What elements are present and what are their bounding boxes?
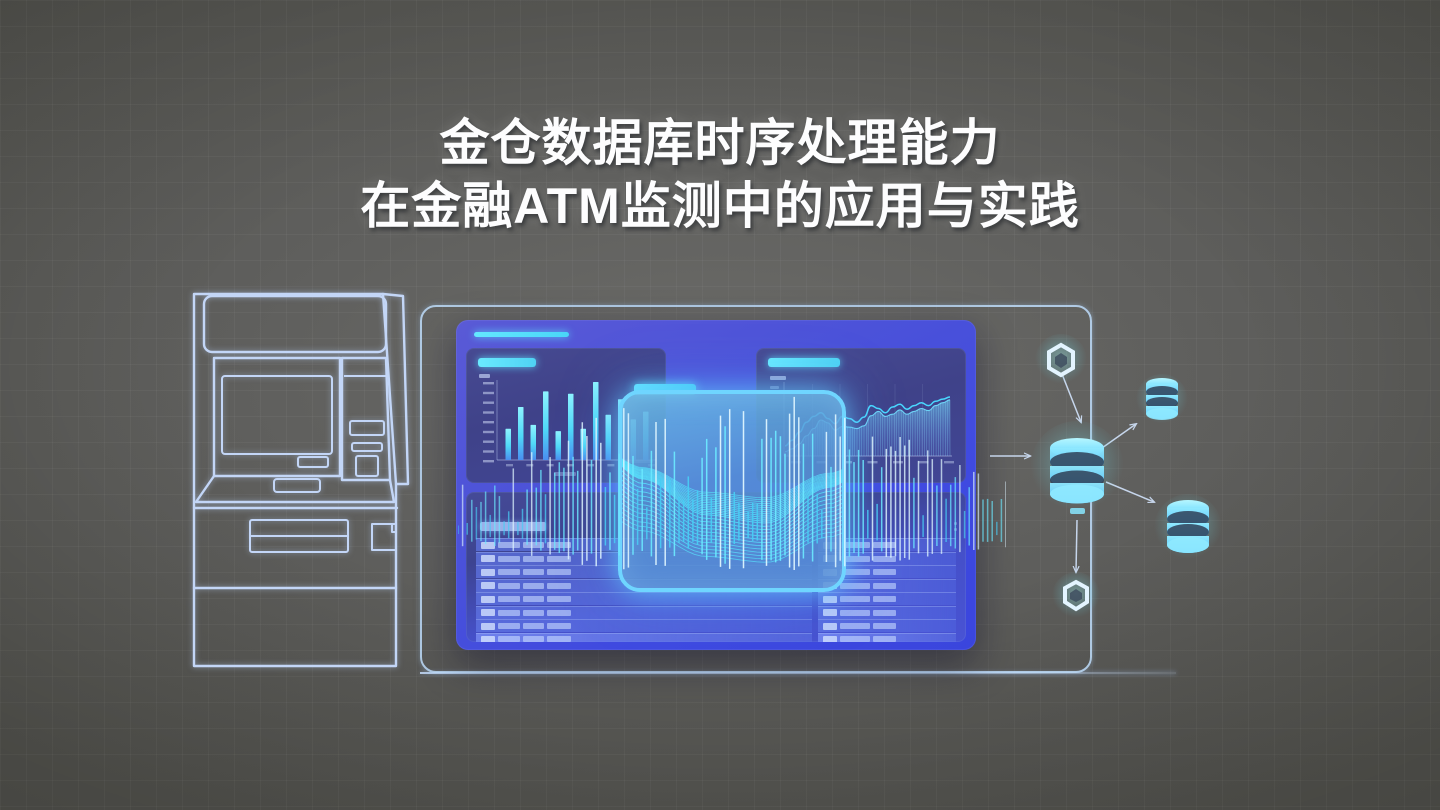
row-text-segment [523, 556, 544, 562]
row-id-tag [481, 569, 495, 576]
table-row[interactable] [476, 606, 812, 619]
row-text-segment [547, 583, 571, 589]
row-id-tag [481, 596, 495, 603]
row-text-segment [498, 623, 520, 629]
row-text-segment [873, 636, 896, 642]
row-text-segment [873, 542, 896, 548]
row-text-segment [840, 636, 870, 642]
row-text-segment [498, 583, 520, 589]
row-id-tag [823, 636, 837, 643]
ground-line [420, 672, 1176, 674]
row-text-segment [547, 610, 571, 616]
bar-chart-xlabel-blob [554, 472, 576, 476]
table-row[interactable] [818, 633, 956, 643]
alert-table-menu-dot-1[interactable] [954, 522, 957, 525]
row-id-tag [481, 542, 495, 549]
row-text-segment [523, 569, 544, 575]
row-id-tag [823, 623, 837, 630]
row-text-segment [840, 623, 870, 629]
row-text-segment [547, 542, 571, 548]
row-text-segment [840, 596, 870, 602]
area-chart-ylabel-blob [770, 386, 779, 389]
table-row[interactable] [476, 633, 812, 643]
page-title-line-2: 在金融ATM监测中的应用与实践 [0, 175, 1440, 238]
stacked-sine-waveform [618, 390, 846, 588]
row-id-tag [481, 636, 495, 643]
table-row[interactable] [476, 619, 812, 632]
row-id-tag [481, 582, 495, 589]
database-cluster-svg [990, 330, 1280, 630]
row-text-segment [547, 569, 571, 575]
atm-machine-illustration [170, 280, 430, 680]
row-text-segment [873, 596, 896, 602]
page-title-line-1: 金仓数据库时序处理能力 [0, 112, 1440, 175]
row-text-segment [873, 556, 896, 562]
row-text-segment [498, 569, 520, 575]
row-text-segment [523, 610, 544, 616]
row-text-segment [498, 596, 520, 602]
row-text-segment [873, 610, 896, 616]
row-text-segment [523, 596, 544, 602]
table-row[interactable] [476, 592, 812, 605]
table-row[interactable] [818, 619, 956, 632]
hex-node-bottom [1052, 572, 1100, 620]
row-text-segment [498, 636, 520, 642]
row-id-tag [823, 609, 837, 616]
row-text-segment [498, 610, 520, 616]
table-row[interactable] [818, 606, 956, 619]
primary-database-node [1030, 421, 1124, 515]
bar-chart-ytick-labels [483, 382, 494, 462]
row-id-tag [481, 609, 495, 616]
row-id-tag [481, 555, 495, 562]
central-waveform-card [618, 390, 846, 592]
hex-node-top [1035, 334, 1087, 386]
atm-line-art-svg [170, 280, 430, 680]
row-text-segment [523, 636, 544, 642]
row-id-tag [823, 596, 837, 603]
row-text-segment [547, 636, 571, 642]
row-text-segment [873, 623, 896, 629]
row-text-segment [523, 542, 544, 548]
alert-table-menu-dot-2[interactable] [954, 528, 957, 531]
row-text-segment [498, 542, 520, 548]
row-text-segment [840, 610, 870, 616]
alert-table-title-blob [480, 522, 546, 531]
table-row[interactable] [818, 592, 956, 605]
row-text-segment [547, 556, 571, 562]
panel-title-accent-bar [474, 332, 569, 337]
row-text-segment [523, 583, 544, 589]
arrow-primary-to-hex-bottom [1076, 520, 1077, 572]
replica-database-node-lower [1154, 494, 1222, 562]
central-waveform-module [618, 390, 846, 592]
replica-database-node-upper [1136, 374, 1188, 426]
row-text-segment [547, 623, 571, 629]
row-text-segment [873, 569, 896, 575]
row-id-tag [481, 623, 495, 630]
slide-title: 金仓数据库时序处理能力 在金融ATM监测中的应用与实践 [0, 112, 1440, 238]
row-text-segment [498, 556, 520, 562]
row-text-segment [547, 596, 571, 602]
row-text-segment [523, 623, 544, 629]
row-text-segment [873, 583, 896, 589]
area-chart-title-blob [770, 376, 786, 380]
database-cluster-diagram [990, 330, 1280, 630]
bar-chart-ylabel-blob [479, 374, 490, 378]
